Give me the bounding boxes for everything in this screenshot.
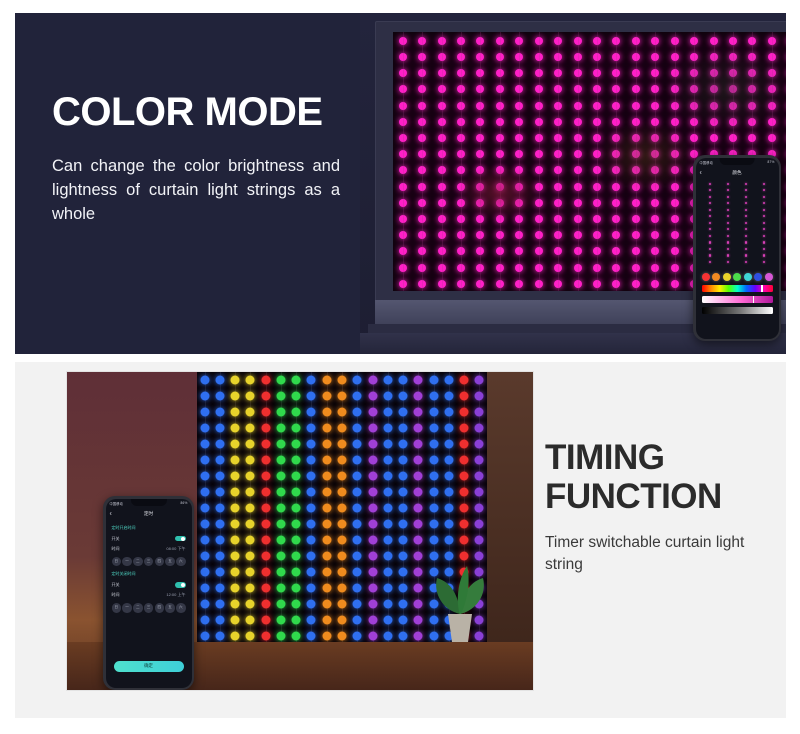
led-dot <box>322 568 331 577</box>
led-dot <box>353 456 362 465</box>
led-dot <box>200 600 209 609</box>
led-dot <box>215 488 224 497</box>
led-dot <box>383 552 392 561</box>
led-dot <box>231 472 240 481</box>
led-dot <box>246 408 255 417</box>
led-dot <box>261 616 270 625</box>
preview-dot <box>709 222 711 224</box>
led-dot <box>460 520 469 529</box>
led-dot <box>429 440 438 449</box>
led-dot <box>307 504 316 513</box>
led-dot <box>353 520 362 529</box>
led-dot <box>231 424 240 433</box>
led-dot <box>292 632 301 641</box>
led-dot <box>460 408 469 417</box>
led-dot <box>399 472 408 481</box>
potted-plant-icon <box>421 552 499 648</box>
led-dot <box>338 568 347 577</box>
led-dot <box>322 536 331 545</box>
weekday-日[interactable]: 日 <box>112 603 122 613</box>
preview-dot <box>727 222 729 224</box>
led-dot <box>383 520 392 529</box>
phone-timing: 中国移动 86% ‹ 定时 定时开启时间 开关 时 <box>103 496 194 690</box>
led-dot <box>338 488 347 497</box>
led-dot <box>460 472 469 481</box>
led-dot <box>246 568 255 577</box>
led-dot <box>261 504 270 513</box>
led-dot <box>399 552 408 561</box>
led-dot <box>246 440 255 449</box>
page-title-timing: TIMING FUNCTION <box>545 438 775 516</box>
brightness-slider[interactable] <box>702 307 773 314</box>
chevron-left-icon[interactable]: ‹ <box>110 510 112 517</box>
led-dot <box>414 392 423 401</box>
led-dot <box>414 536 423 545</box>
led-dot <box>444 408 453 417</box>
toggle-knob <box>181 537 185 541</box>
led-dot <box>475 536 484 545</box>
led-dot <box>276 632 285 641</box>
led-dot <box>261 632 270 641</box>
led-dot <box>475 392 484 401</box>
weekday-一[interactable]: 一 <box>122 603 132 613</box>
confirm-button[interactable]: 确定 <box>114 661 184 672</box>
timing-description: Timer switchable curtain light string <box>545 532 775 575</box>
led-dot <box>200 568 209 577</box>
led-dot <box>292 408 301 417</box>
led-dot <box>215 504 224 513</box>
led-dot <box>475 456 484 465</box>
brightness-slider-knob[interactable] <box>771 307 773 314</box>
led-dot <box>215 472 224 481</box>
led-dot <box>215 600 224 609</box>
led-dot <box>444 440 453 449</box>
led-dot <box>215 536 224 545</box>
hue-slider-knob[interactable] <box>761 285 763 292</box>
led-dot <box>444 424 453 433</box>
led-dot <box>231 488 240 497</box>
led-dot <box>399 408 408 417</box>
timer-on-toggle[interactable] <box>175 536 186 542</box>
weekday-二[interactable]: 二 <box>133 557 143 567</box>
led-dot <box>307 440 316 449</box>
led-dot <box>399 616 408 625</box>
led-dot <box>368 552 377 561</box>
led-dot <box>307 632 316 641</box>
led-dot <box>215 440 224 449</box>
led-dot <box>246 632 255 641</box>
led-dot <box>399 488 408 497</box>
led-dot <box>261 392 270 401</box>
preview-dot <box>763 235 765 237</box>
led-dot <box>231 440 240 449</box>
preview-dot <box>727 228 729 230</box>
led-dot <box>338 472 347 481</box>
led-dot <box>460 392 469 401</box>
led-dot <box>322 520 331 529</box>
preview-dot <box>727 209 729 211</box>
preview-dot <box>763 202 765 204</box>
led-dot <box>353 584 362 593</box>
led-dot <box>414 440 423 449</box>
led-dot <box>231 408 240 417</box>
led-dot <box>231 552 240 561</box>
led-dot <box>200 632 209 641</box>
led-dot <box>399 440 408 449</box>
switch-label: 开关 <box>112 536 120 542</box>
app-bar: ‹ 定时 <box>106 508 192 520</box>
led-dot <box>200 392 209 401</box>
led-dot <box>200 616 209 625</box>
led-dot <box>338 616 347 625</box>
led-dot <box>322 552 331 561</box>
color-mode-panel: COLOR MODE Can change the color brightne… <box>15 13 786 354</box>
led-dot <box>429 376 438 385</box>
app-bar-title: 颜色 <box>732 170 741 176</box>
led-dot <box>368 472 377 481</box>
led-dot <box>399 568 408 577</box>
weekday-六[interactable]: 六 <box>176 557 186 567</box>
led-dot <box>231 600 240 609</box>
led-dot <box>246 584 255 593</box>
led-dot <box>292 376 301 385</box>
led-dot <box>307 376 316 385</box>
color-swatch-magenta[interactable] <box>765 273 773 281</box>
weekday-一[interactable]: 一 <box>122 557 132 567</box>
preview-dot <box>709 189 711 191</box>
led-dot <box>368 392 377 401</box>
preview-dot <box>763 248 765 250</box>
led-dot <box>368 568 377 577</box>
headline-line-1: TIMING <box>545 438 664 477</box>
led-dot <box>399 536 408 545</box>
color-swatch-cyan[interactable] <box>744 273 752 281</box>
led-dot <box>231 632 240 641</box>
led-dot <box>307 600 316 609</box>
preview-dot <box>709 261 711 263</box>
phone-notch <box>130 499 166 506</box>
led-dot <box>338 552 347 561</box>
color-swatch-row[interactable] <box>702 273 773 281</box>
led-dot <box>353 440 362 449</box>
led-dot <box>307 552 316 561</box>
led-dot <box>353 392 362 401</box>
led-dot <box>307 520 316 529</box>
phone-color-mode: 中国移动 87% ‹ 颜色 <box>693 155 781 341</box>
preview-dot <box>745 248 747 250</box>
timer-off-toggle[interactable] <box>175 582 186 588</box>
led-dot <box>307 472 316 481</box>
led-dot <box>261 600 270 609</box>
led-dot <box>292 392 301 401</box>
color-swatch-yellow[interactable] <box>723 273 731 281</box>
preview-dot <box>727 215 729 217</box>
led-dot <box>353 568 362 577</box>
switch-row[interactable]: 开关 <box>112 580 186 590</box>
led-dot <box>414 424 423 433</box>
room-scene-bottom: 中国移动 86% ‹ 定时 定时开启时间 开关 时 <box>67 372 533 690</box>
led-dot <box>353 376 362 385</box>
led-dot <box>246 472 255 481</box>
led-dot <box>414 408 423 417</box>
led-dot <box>444 392 453 401</box>
led-dot <box>200 376 209 385</box>
section-title: 定时关闭时间 <box>112 571 186 577</box>
led-dot <box>353 632 362 641</box>
led-dot <box>338 520 347 529</box>
led-dot <box>429 392 438 401</box>
led-dot <box>414 472 423 481</box>
page-title-color-mode: COLOR MODE <box>52 91 352 133</box>
led-dot <box>276 456 285 465</box>
led-dot <box>399 456 408 465</box>
toggle-knob <box>181 583 185 587</box>
preview-dot <box>727 196 729 198</box>
saturation-slider[interactable] <box>702 296 773 303</box>
led-dot <box>307 584 316 593</box>
led-dot <box>475 408 484 417</box>
led-dot <box>475 424 484 433</box>
led-dot <box>276 392 285 401</box>
led-dot <box>307 536 316 545</box>
led-dot <box>246 488 255 497</box>
led-dot <box>215 616 224 625</box>
led-dot <box>261 456 270 465</box>
time-row[interactable]: 时间 12:00 上午 <box>112 590 186 600</box>
switch-row[interactable]: 开关 <box>112 534 186 544</box>
led-dot <box>414 520 423 529</box>
led-dot <box>276 536 285 545</box>
led-dot <box>368 488 377 497</box>
led-dot <box>215 424 224 433</box>
led-dot <box>368 584 377 593</box>
led-dot <box>261 520 270 529</box>
preview-dot <box>763 215 765 217</box>
color-mode-description: Can change the color brightness and ligh… <box>52 155 340 227</box>
led-dot <box>246 536 255 545</box>
led-dot <box>383 632 392 641</box>
preview-dot <box>709 228 711 230</box>
headline-line-2: FUNCTION <box>545 477 722 516</box>
led-dot <box>261 376 270 385</box>
led-dot <box>399 504 408 513</box>
led-dot <box>292 536 301 545</box>
led-dot <box>261 408 270 417</box>
led-dot <box>307 488 316 497</box>
led-dot <box>353 552 362 561</box>
app-bar-title: 定时 <box>144 511 153 517</box>
preview-column <box>757 183 772 267</box>
preview-dot <box>709 183 711 185</box>
weekday-四[interactable]: 四 <box>155 603 165 613</box>
led-dot <box>429 536 438 545</box>
weekday-selector[interactable]: 日一二三四五六 <box>112 557 186 567</box>
weekday-五[interactable]: 五 <box>165 557 175 567</box>
led-dot <box>261 584 270 593</box>
led-dot <box>276 520 285 529</box>
led-dot <box>353 616 362 625</box>
led-dot <box>475 520 484 529</box>
led-dot <box>383 536 392 545</box>
led-dot <box>475 376 484 385</box>
chevron-left-icon[interactable]: ‹ <box>700 169 702 176</box>
led-dot <box>215 456 224 465</box>
preview-dot <box>763 222 765 224</box>
led-dot <box>215 568 224 577</box>
phone-notch <box>720 158 755 165</box>
led-dot <box>322 424 331 433</box>
status-battery: 87% <box>768 160 775 164</box>
preview-dot <box>745 215 747 217</box>
preview-dot <box>763 261 765 263</box>
led-dot <box>399 392 408 401</box>
led-dot <box>231 536 240 545</box>
led-dot <box>200 408 209 417</box>
led-dot <box>215 632 224 641</box>
preview-column <box>721 183 736 267</box>
led-dot <box>383 616 392 625</box>
led-dot <box>475 504 484 513</box>
led-dot <box>215 376 224 385</box>
weekday-日[interactable]: 日 <box>112 557 122 567</box>
led-dot <box>215 408 224 417</box>
led-dot <box>338 424 347 433</box>
led-dot <box>292 552 301 561</box>
weekday-三[interactable]: 三 <box>144 603 154 613</box>
led-dot <box>475 440 484 449</box>
led-dot <box>246 600 255 609</box>
led-dot <box>292 600 301 609</box>
led-dot <box>307 616 316 625</box>
timer-section-off: 定时关闭时间 开关 时间 12:00 上午 日一二三四五六 <box>112 571 186 613</box>
led-dot <box>276 424 285 433</box>
led-dot <box>383 424 392 433</box>
led-dot <box>383 408 392 417</box>
led-dot <box>231 376 240 385</box>
led-dot <box>338 456 347 465</box>
led-dot <box>444 472 453 481</box>
preview-dot <box>709 202 711 204</box>
weekday-二[interactable]: 二 <box>133 603 143 613</box>
color-swatch-orange[interactable] <box>712 273 720 281</box>
led-dot <box>200 488 209 497</box>
led-dot <box>414 456 423 465</box>
color-swatch-green[interactable] <box>733 273 741 281</box>
led-dot <box>475 488 484 497</box>
weekday-五[interactable]: 五 <box>165 603 175 613</box>
preview-dot <box>727 235 729 237</box>
led-dot <box>460 456 469 465</box>
led-dot <box>322 632 331 641</box>
preview-dot <box>763 254 765 256</box>
led-dot <box>444 376 453 385</box>
led-dot <box>460 488 469 497</box>
preview-dot <box>745 209 747 211</box>
led-dot <box>261 472 270 481</box>
led-dot <box>276 600 285 609</box>
led-dot <box>444 536 453 545</box>
led-dot <box>200 552 209 561</box>
led-dot <box>368 440 377 449</box>
preview-dot <box>745 241 747 243</box>
led-dot <box>261 568 270 577</box>
led-dot <box>460 440 469 449</box>
led-dot <box>307 408 316 417</box>
color-swatch-red[interactable] <box>702 273 710 281</box>
led-dot <box>307 424 316 433</box>
led-dot <box>414 488 423 497</box>
led-dot <box>353 536 362 545</box>
preview-dot <box>763 241 765 243</box>
led-dot <box>322 504 331 513</box>
weekday-四[interactable]: 四 <box>155 557 165 567</box>
timer-section-on: 定时开启时间 开关 时间 08:00 下午 日一二三四五六 <box>112 525 186 567</box>
led-dot <box>292 584 301 593</box>
led-dot <box>460 424 469 433</box>
preview-dot <box>763 189 765 191</box>
led-dot <box>322 488 331 497</box>
led-dot <box>338 408 347 417</box>
led-dot <box>429 456 438 465</box>
led-dot <box>276 552 285 561</box>
led-dot <box>322 408 331 417</box>
color-swatch-blue[interactable] <box>754 273 762 281</box>
led-dot <box>246 552 255 561</box>
led-dot <box>307 456 316 465</box>
led-dot <box>246 520 255 529</box>
hue-slider[interactable] <box>702 285 773 292</box>
led-dot <box>200 424 209 433</box>
led-dot <box>215 520 224 529</box>
preview-dot <box>727 189 729 191</box>
led-dot <box>292 488 301 497</box>
led-dot <box>292 504 301 513</box>
led-dot <box>276 504 285 513</box>
led-dot <box>276 488 285 497</box>
saturation-slider-knob[interactable] <box>753 296 755 303</box>
led-dot <box>368 616 377 625</box>
status-battery: 86% <box>181 501 188 505</box>
led-dot <box>292 424 301 433</box>
led-dot <box>246 456 255 465</box>
led-dot <box>292 568 301 577</box>
led-dot <box>322 472 331 481</box>
time-row[interactable]: 时间 08:00 下午 <box>112 544 186 554</box>
switch-label: 开关 <box>112 582 120 588</box>
timing-copy: TIMING FUNCTION Timer switchable curtain… <box>545 438 775 576</box>
led-dot <box>276 440 285 449</box>
led-dot <box>353 472 362 481</box>
led-dot <box>292 440 301 449</box>
led-dot <box>231 616 240 625</box>
section-title: 定时开启时间 <box>112 525 186 531</box>
led-dot <box>368 600 377 609</box>
led-dot <box>399 584 408 593</box>
weekday-六[interactable]: 六 <box>176 603 186 613</box>
led-dot <box>322 600 331 609</box>
weekday-三[interactable]: 三 <box>144 557 154 567</box>
led-preview-grid <box>703 183 772 267</box>
led-dot <box>231 568 240 577</box>
led-dot <box>368 504 377 513</box>
led-dot <box>338 600 347 609</box>
led-dot <box>444 456 453 465</box>
color-mode-copy: COLOR MODE Can change the color brightne… <box>52 91 352 227</box>
led-dot <box>368 536 377 545</box>
led-dot <box>460 504 469 513</box>
led-dot <box>429 424 438 433</box>
weekday-selector[interactable]: 日一二三四五六 <box>112 603 186 613</box>
